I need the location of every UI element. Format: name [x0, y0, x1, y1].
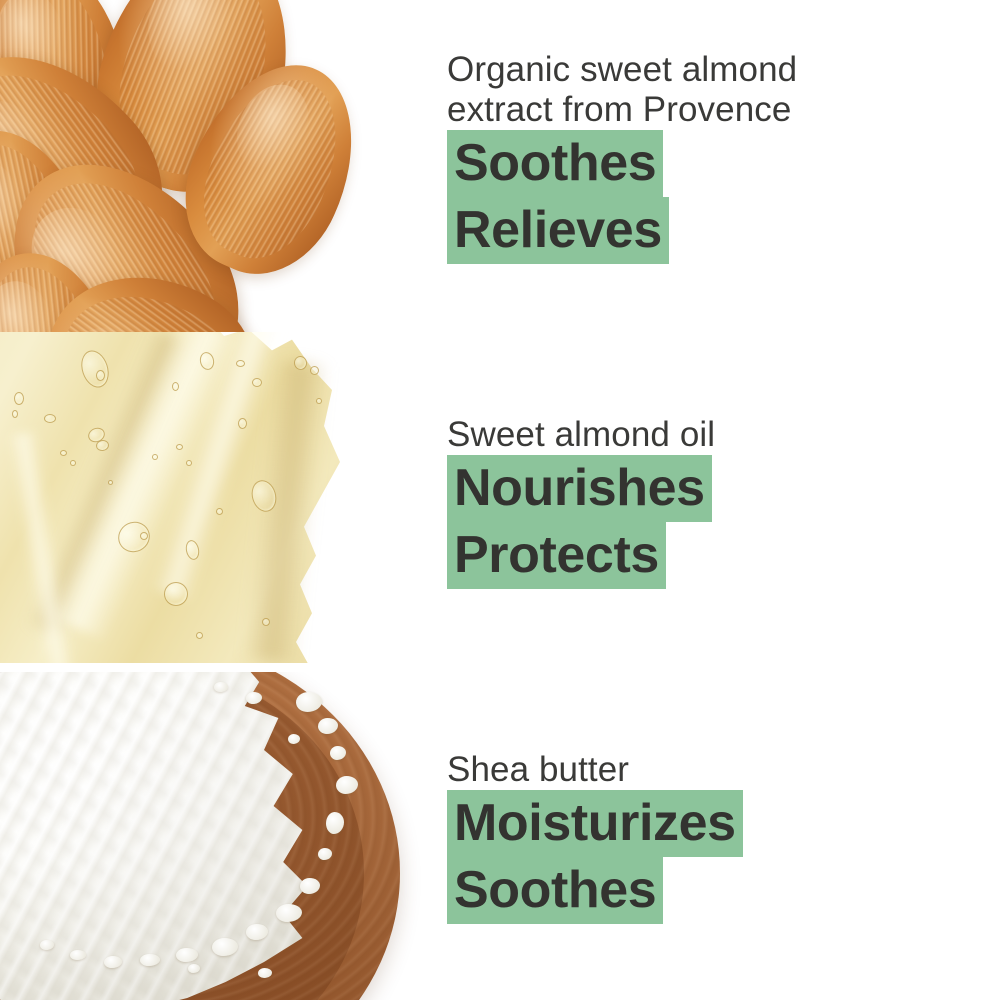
oil-bubble — [44, 414, 56, 423]
benefit-row: Soothes — [447, 130, 797, 197]
oil-bubble — [12, 410, 18, 418]
benefit-highlight: Moisturizes — [447, 790, 743, 857]
oil-bubble — [310, 366, 319, 375]
benefit-highlight: Protects — [447, 522, 666, 589]
section-text-almond-oil: Sweet almond oil Nourishes Protects — [447, 415, 715, 589]
benefit-row: Relieves — [447, 197, 797, 264]
oil-bubble — [216, 508, 223, 515]
subtitle-line: Organic sweet almond — [447, 50, 797, 90]
oil-bubble — [60, 450, 67, 456]
benefit-highlight: Relieves — [447, 197, 669, 264]
infographic-page: Organic sweet almond extract from Proven… — [0, 0, 1000, 1000]
benefit-highlight: Soothes — [447, 130, 663, 197]
oil-bubble — [108, 480, 113, 485]
benefit-highlight: Soothes — [447, 857, 663, 924]
oil-bubble — [186, 460, 192, 466]
subtitle-line: extract from Provence — [447, 90, 797, 130]
oil-bubble — [252, 378, 262, 387]
oil-bubble — [176, 444, 183, 450]
almonds-photo — [0, 0, 392, 332]
oil-bubble — [238, 418, 247, 429]
benefit-row: Soothes — [447, 857, 743, 924]
oil-bubble — [172, 382, 179, 391]
subtitle-line: Shea butter — [447, 750, 743, 790]
oil-bubble — [196, 632, 203, 639]
benefit-row: Nourishes — [447, 455, 715, 522]
section-text-almond-extract: Organic sweet almond extract from Proven… — [447, 50, 797, 264]
benefit-row: Protects — [447, 522, 715, 589]
oil-bubble — [316, 398, 322, 404]
oil-bubble — [236, 360, 245, 367]
benefit-highlight: Nourishes — [447, 455, 712, 522]
benefit-row: Moisturizes — [447, 790, 743, 857]
oil-bubble — [152, 454, 158, 460]
subtitle-line: Sweet almond oil — [447, 415, 715, 455]
oil-bubble — [96, 370, 105, 381]
oil-bubble — [164, 582, 188, 606]
oil-bubble — [70, 460, 76, 466]
oil-bubble — [14, 392, 24, 405]
shea-butter-photo — [0, 672, 430, 1000]
section-text-shea-butter: Shea butter Moisturizes Soothes — [447, 750, 743, 924]
oil-bubble — [262, 618, 270, 626]
almond-oil-photo — [0, 332, 392, 663]
oil-bubble — [140, 532, 148, 540]
